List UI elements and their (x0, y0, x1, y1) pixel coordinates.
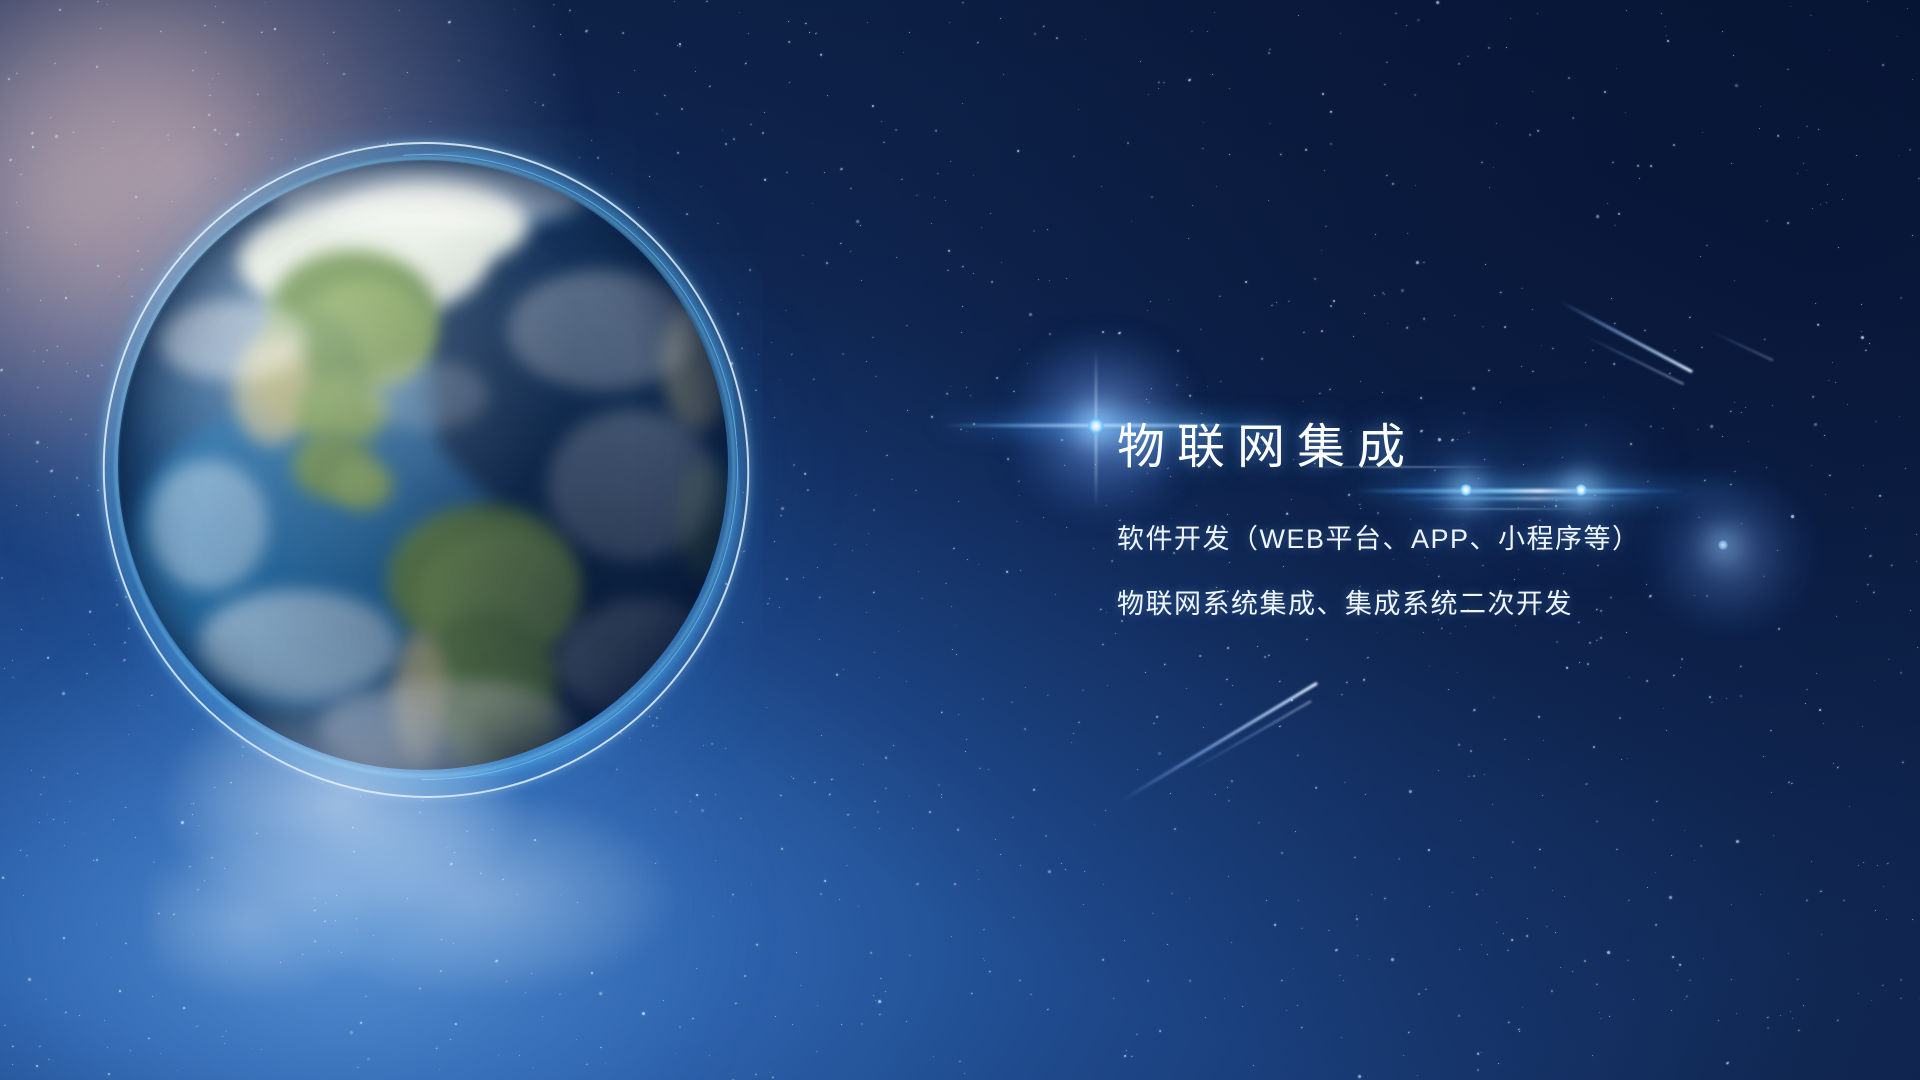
globe-cloud-plume (150, 690, 710, 1020)
page-title: 物联网集成 (1117, 424, 1641, 472)
hero-banner: 物联网集成 软件开发（WEB平台、APP、小程序等） 物联网系统集成、集成系统二… (0, 0, 1920, 1080)
lens-flare-core (1088, 418, 1104, 434)
earth-globe (118, 160, 728, 770)
lens-flare-halo-secondary (1640, 480, 1820, 630)
lens-flare-core-secondary (1718, 540, 1728, 550)
hero-subtitle-2: 物联网系统集成、集成系统二次开发 (1117, 591, 1641, 618)
hero-text-block: 物联网集成 软件开发（WEB平台、APP、小程序等） 物联网系统集成、集成系统二… (1117, 424, 1641, 618)
hero-subtitle-1: 软件开发（WEB平台、APP、小程序等） (1117, 526, 1641, 553)
